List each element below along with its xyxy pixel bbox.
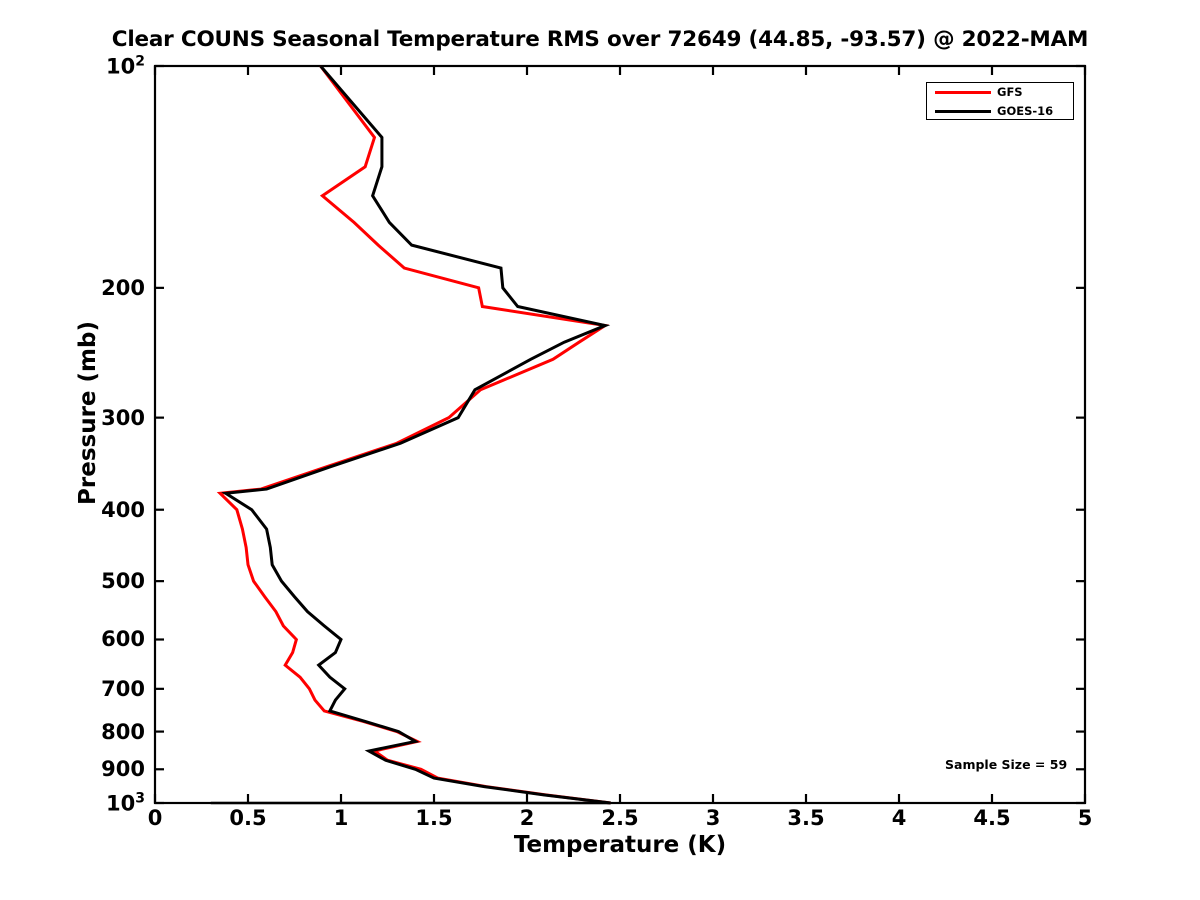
legend[interactable]: GFSGOES-16 [926, 82, 1074, 120]
x-tick-label: 4.5 [973, 806, 1010, 830]
y-tick-label: 103 [106, 791, 145, 816]
y-tick-label: 102 [106, 54, 145, 79]
axes-frame [155, 66, 1085, 803]
x-tick-label: 3.5 [787, 806, 824, 830]
figure-canvas: Clear COUNS Seasonal Temperature RMS ove… [0, 0, 1200, 900]
x-tick-label: 0 [148, 806, 163, 830]
legend-item-gfs[interactable]: GFS [927, 83, 1073, 102]
x-tick-label: 1.5 [415, 806, 452, 830]
x-tick-label: 2 [520, 806, 535, 830]
y-tick-label: 500 [101, 569, 145, 593]
y-tick-label: 300 [101, 406, 145, 430]
axis-ticks [155, 66, 1085, 803]
data-series-group [211, 66, 611, 803]
x-tick-label: 4 [892, 806, 907, 830]
x-tick-label: 3 [706, 806, 721, 830]
y-tick-label: 900 [101, 757, 145, 781]
legend-label: GOES-16 [997, 106, 1053, 118]
series-line-goes-16 [226, 66, 611, 803]
x-tick-label: 2.5 [601, 806, 638, 830]
x-tick-label: 5 [1078, 806, 1093, 830]
legend-color-swatch [935, 110, 991, 113]
y-tick-label: 600 [101, 627, 145, 651]
series-line-gfs [220, 66, 611, 803]
x-tick-label: 1 [334, 806, 349, 830]
legend-item-goes-16[interactable]: GOES-16 [927, 102, 1073, 121]
x-tick-label: 0.5 [229, 806, 266, 830]
y-tick-label: 800 [101, 720, 145, 744]
legend-label: GFS [997, 87, 1023, 99]
y-tick-label: 700 [101, 677, 145, 701]
x-axis-label: Temperature (K) [155, 832, 1085, 858]
y-tick-label: 200 [101, 276, 145, 300]
y-axis-label: Pressure (mb) [75, 303, 101, 523]
y-tick-label: 400 [101, 498, 145, 522]
legend-color-swatch [935, 91, 991, 94]
sample-size-annotation: Sample Size = 59 [945, 757, 1067, 772]
